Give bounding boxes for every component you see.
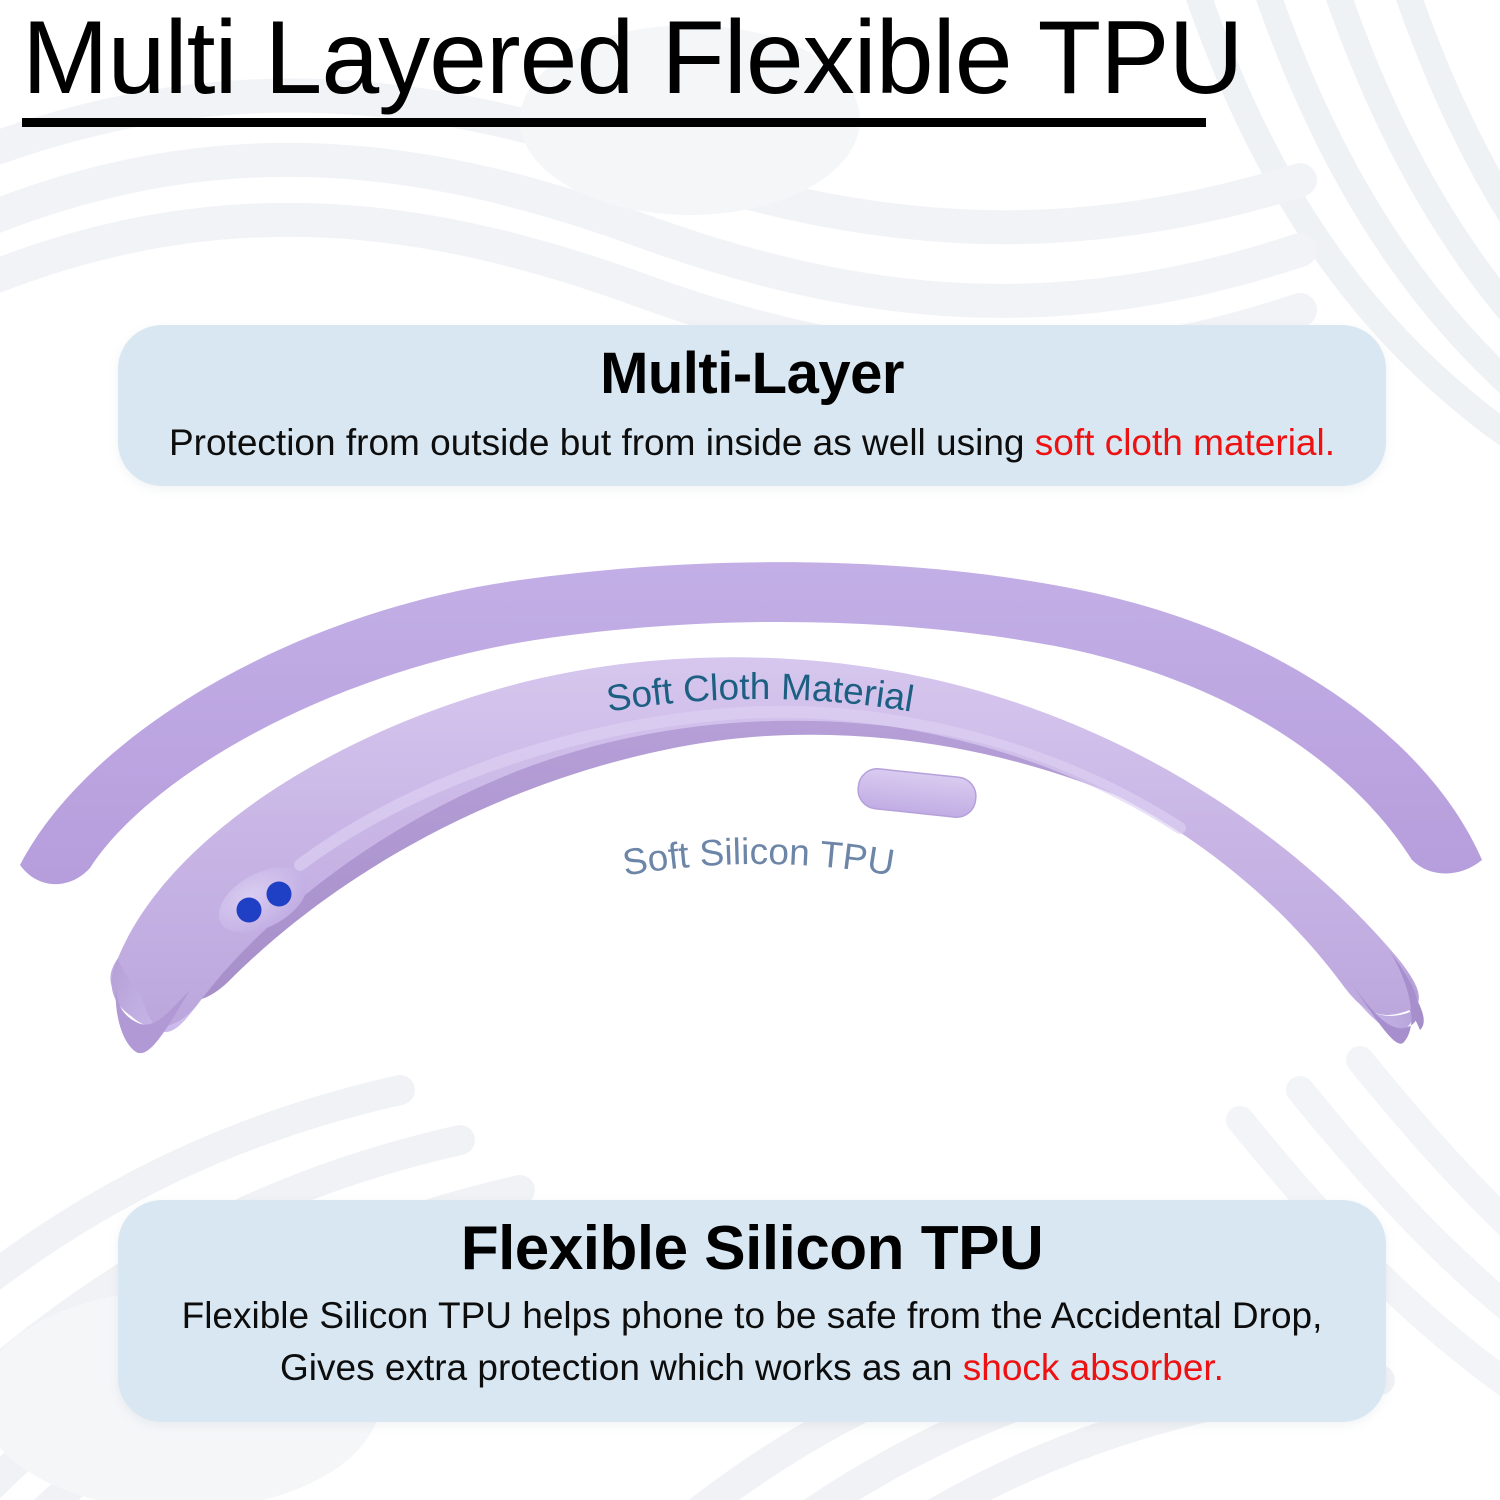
camera-lens-dot	[237, 898, 262, 923]
side-power-button	[856, 767, 978, 819]
product-illustration: Soft Cloth Material Soft Silicon TPU	[0, 560, 1500, 1120]
info-card-flexible-silicon-tpu: Flexible Silicon TPU Flexible Silicon TP…	[118, 1200, 1386, 1422]
card-body-highlight: soft cloth material.	[1035, 422, 1335, 463]
card-body-highlight: shock absorber.	[963, 1347, 1224, 1388]
card-body-text: Gives extra protection which works as an	[280, 1347, 963, 1388]
card-body-line-2: Gives extra protection which works as an…	[118, 1342, 1386, 1394]
card-heading-multi-layer: Multi-Layer	[118, 341, 1386, 407]
card-body-text: Protection from outside but from inside …	[169, 422, 1035, 463]
card-body-line-1: Flexible Silicon TPU helps phone to be s…	[118, 1290, 1386, 1342]
card-body-flexible-silicon-tpu: Flexible Silicon TPU helps phone to be s…	[118, 1290, 1386, 1394]
title-underline-rule	[22, 118, 1206, 127]
card-body-multi-layer: Protection from outside but from inside …	[118, 417, 1386, 469]
info-card-multi-layer: Multi-Layer Protection from outside but …	[118, 325, 1386, 486]
card-heading-flexible-silicon-tpu: Flexible Silicon TPU	[118, 1214, 1386, 1284]
camera-lens-dot	[267, 882, 292, 907]
label-soft-silicon-tpu: Soft Silicon TPU	[620, 831, 898, 884]
page-title: Multi Layered Flexible TPU	[22, 4, 1243, 112]
infographic-page: Multi Layered Flexible TPU	[0, 0, 1500, 1500]
